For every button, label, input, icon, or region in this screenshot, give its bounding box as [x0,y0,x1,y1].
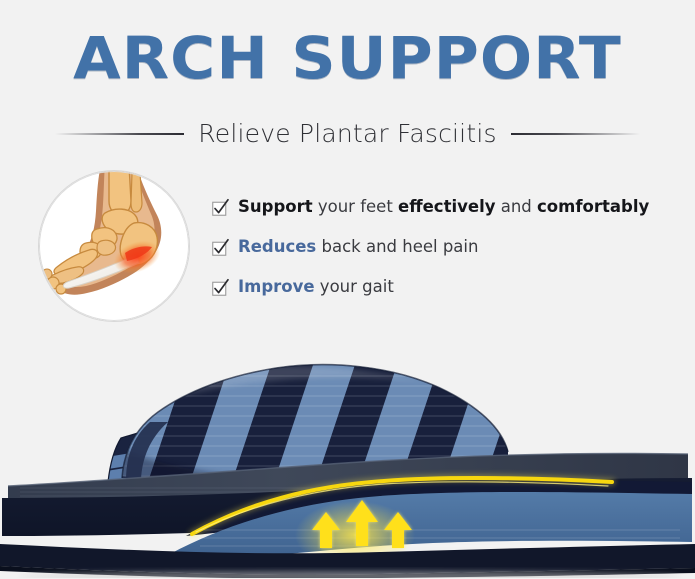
divider-left [55,133,184,135]
benefit-part: comfortably [537,197,649,216]
list-item: Support your feet effectively and comfor… [212,196,690,236]
benefit-part: effectively [398,197,495,216]
benefit-part: your feet [313,197,398,216]
list-item: Reduces back and heel pain [212,236,690,276]
checkbox-checked-icon [212,279,229,296]
subtitle-row: Relieve Plantar Fasciitis [55,119,640,149]
checkbox-checked-icon [212,199,229,216]
benefit-part: and [495,197,537,216]
list-item: Improve your gait [212,276,690,316]
benefit-text: Support your feet effectively and comfor… [238,196,649,218]
benefit-part: Improve [238,277,315,296]
flip-flop-sandal-illustration [0,330,695,579]
divider-right [511,133,640,135]
page-title: ARCH SUPPORT [0,26,695,90]
benefits-list: Support your feet effectively and comfor… [212,196,690,316]
foot-anatomy-icon [39,171,189,321]
product-image [0,330,695,579]
benefit-part: Reduces [238,237,316,256]
foot-anatomy-illustration [38,170,190,322]
checkbox-checked-icon [212,239,229,256]
benefit-part: back and heel pain [316,237,478,256]
benefit-part: Support [238,197,313,216]
benefit-text: Improve your gait [238,276,394,298]
page-subtitle: Relieve Plantar Fasciitis [198,120,496,148]
promo-canvas: ARCH SUPPORT Relieve Plantar Fasciitis [0,0,695,579]
benefit-text: Reduces back and heel pain [238,236,478,258]
benefit-part: your gait [315,277,394,296]
